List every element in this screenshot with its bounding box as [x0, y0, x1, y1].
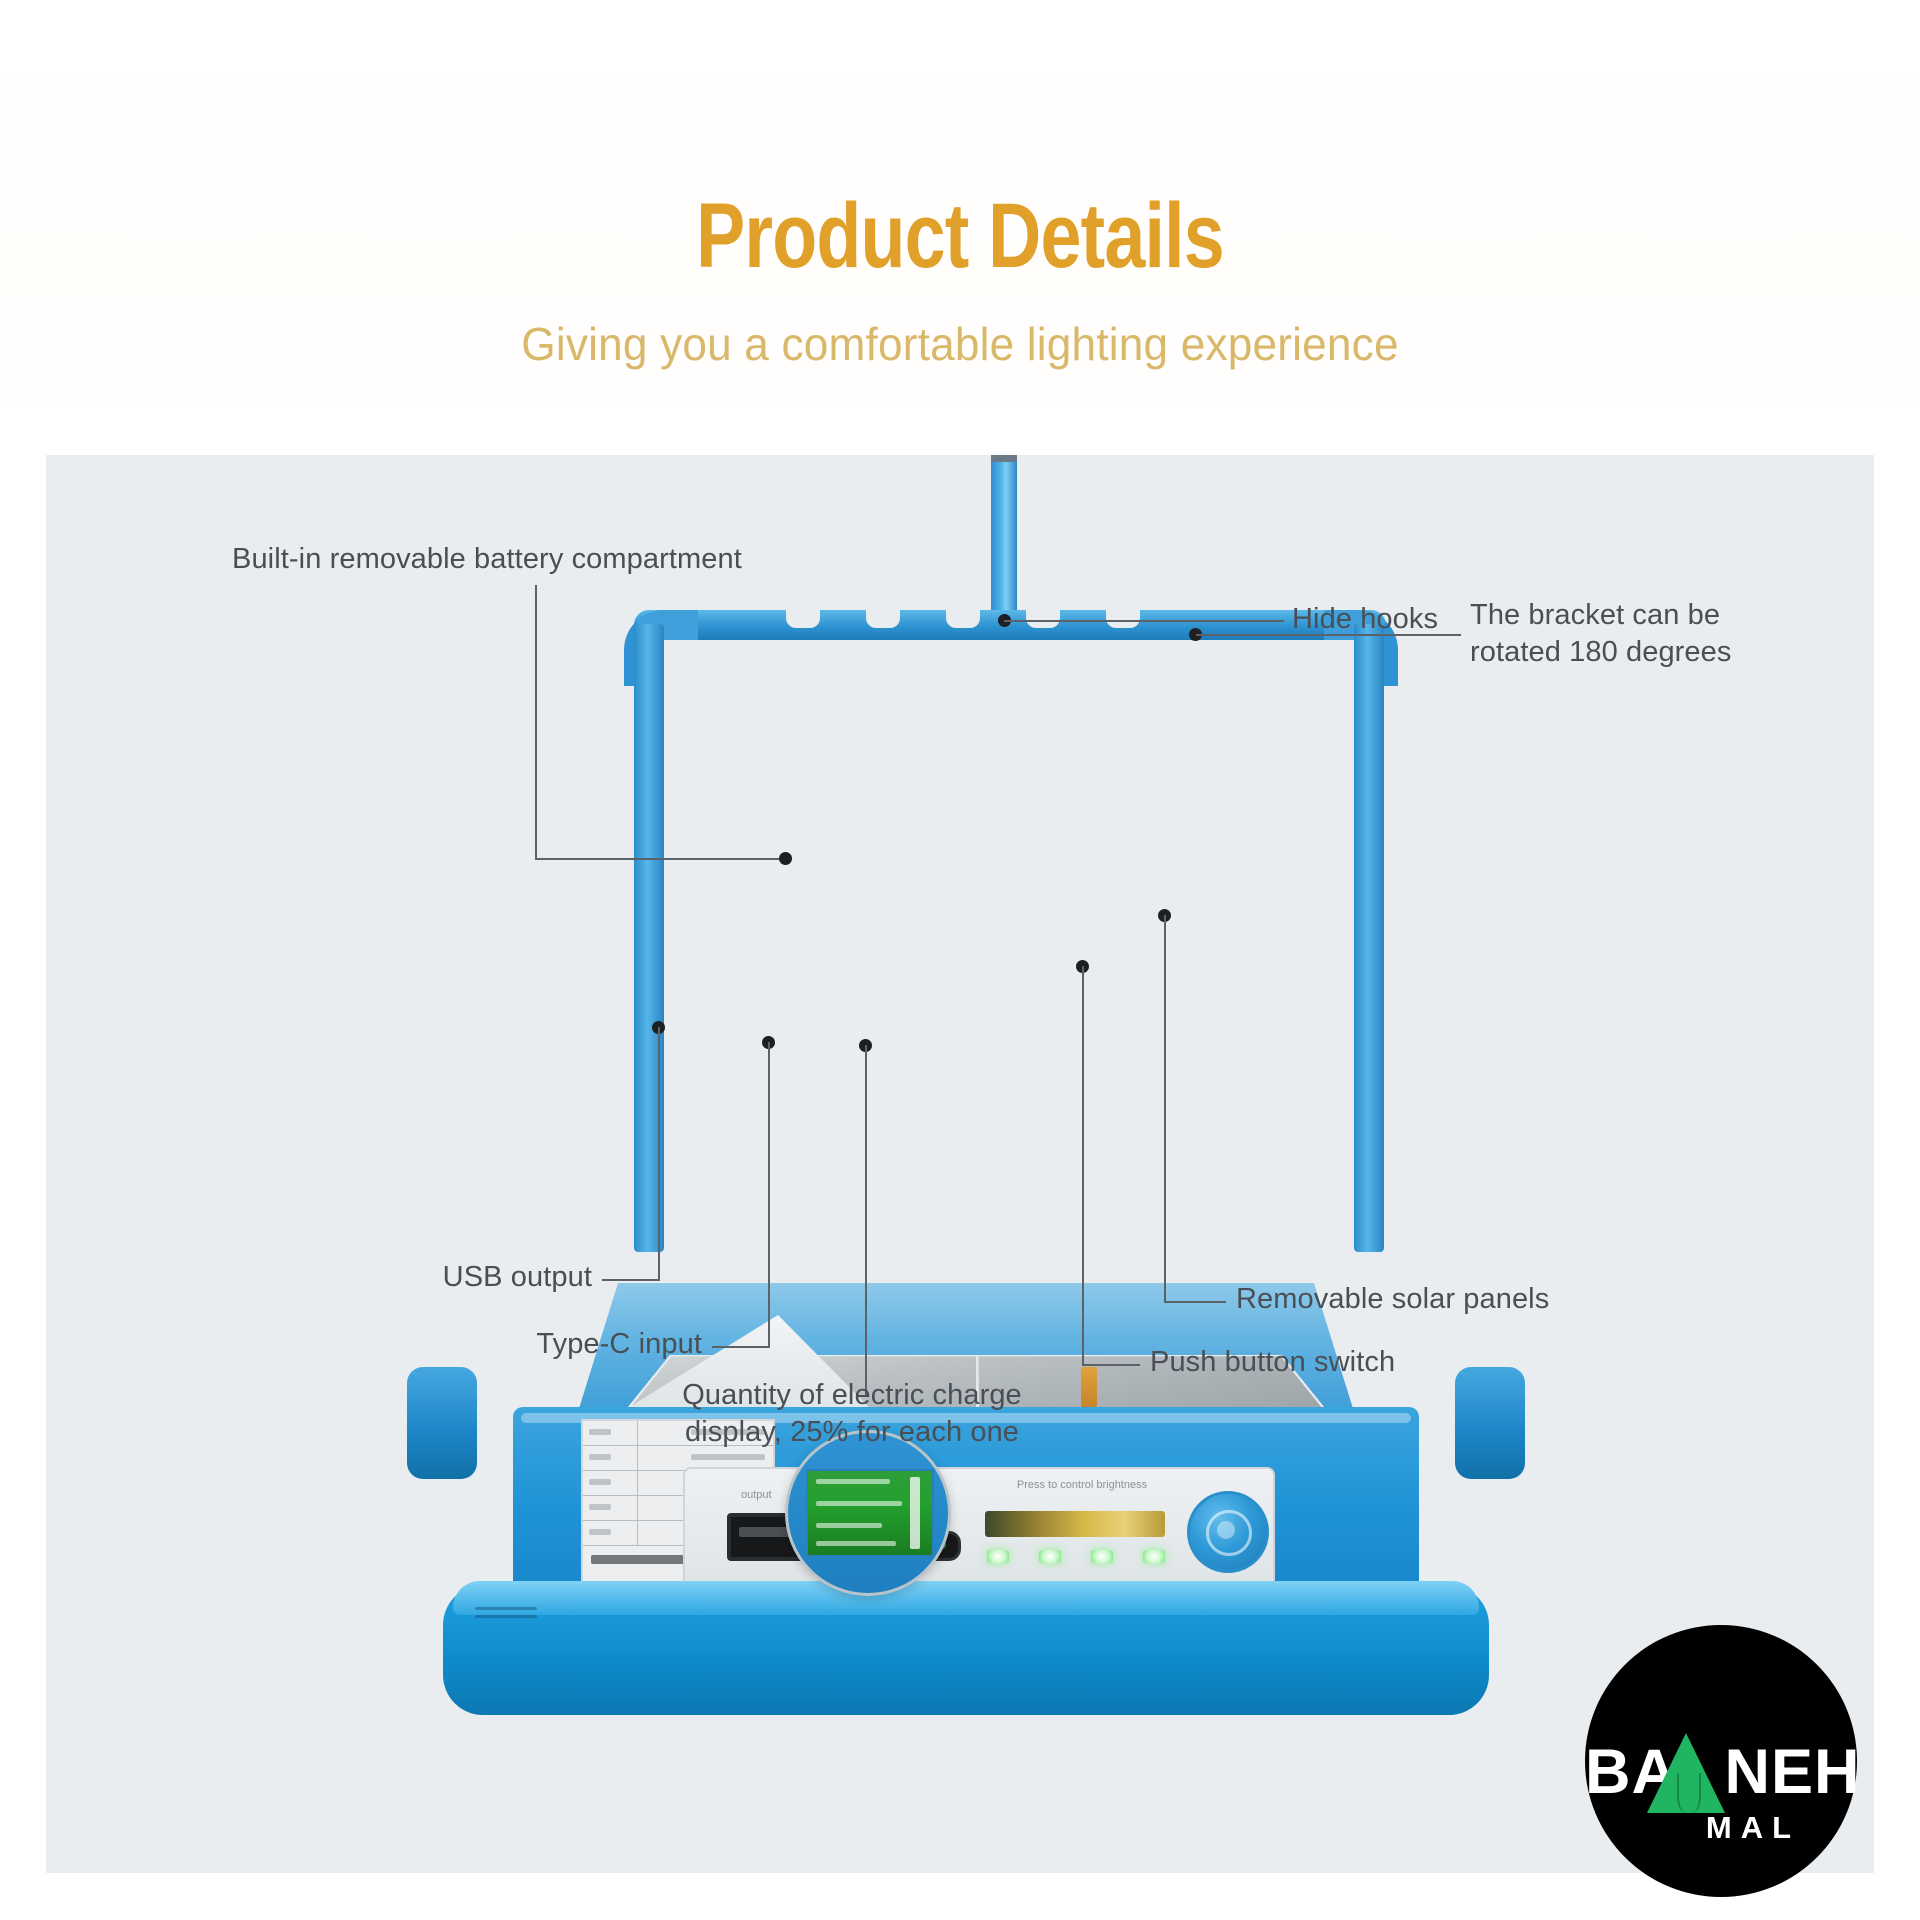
side-hinge-right — [1455, 1367, 1525, 1479]
brightness-indicator-bar — [985, 1511, 1165, 1537]
base-vent-icon — [475, 1607, 537, 1610]
header: Product Details Giving you a comfortable… — [0, 0, 1920, 455]
charge-led — [1091, 1550, 1113, 1563]
product-details-page: Product Details Giving you a comfortable… — [0, 0, 1920, 1920]
leader-line — [865, 1045, 867, 1395]
battery-compartment-magnifier — [785, 1430, 951, 1596]
leader-line — [768, 1042, 770, 1348]
logo-text-secondary: NEH — [1725, 1737, 1861, 1807]
annotation-charge-display: Quantity of electric charge display, 25%… — [642, 1377, 1062, 1451]
charge-led — [987, 1550, 1009, 1563]
side-hinge-left — [407, 1367, 477, 1479]
leader-line — [712, 1346, 770, 1348]
leader-line — [1082, 1364, 1140, 1366]
tent-door-icon — [1677, 1773, 1701, 1813]
annotation-hide-hooks: Hide hooks — [1292, 601, 1438, 638]
annotation-usb-output: USB output — [342, 1259, 592, 1296]
charge-led — [1039, 1550, 1061, 1563]
leader-line — [1164, 1301, 1226, 1303]
bracket-notch — [1106, 610, 1140, 628]
lamp-base-rim — [453, 1581, 1479, 1615]
bracket-notch — [786, 610, 820, 628]
hook-cap-icon — [991, 455, 1017, 462]
logo-wordmark: BAANEH — [1585, 1741, 1857, 1804]
annotation-bracket-rotation: The bracket can be rotated 180 degrees — [1470, 597, 1731, 671]
control-panel: output input Press to control brightness — [683, 1467, 1275, 1589]
annotation-battery-compartment: Built-in removable battery compartment — [232, 541, 742, 578]
annotation-push-button: Push button switch — [1150, 1344, 1395, 1381]
battery-pcb-detail — [806, 1469, 934, 1557]
leader-line — [1004, 620, 1284, 622]
bracket-notch — [946, 610, 980, 628]
brightness-caption: Press to control brightness — [997, 1479, 1167, 1491]
annotation-type-c-input: Type-C input — [442, 1326, 702, 1363]
bracket-notch — [866, 610, 900, 628]
product-image-stage: output input Press to control brightness — [46, 455, 1874, 1873]
bracket-notch — [1026, 610, 1060, 628]
annotation-solar-panels: Removable solar panels — [1236, 1281, 1549, 1318]
leader-dot — [779, 852, 792, 865]
baneh-mal-logo: BAANEH MAL — [1585, 1625, 1857, 1897]
leader-line — [602, 1279, 660, 1281]
base-vent-icon — [475, 1615, 537, 1618]
leader-line — [535, 585, 537, 860]
charge-level-display — [987, 1547, 1165, 1565]
leader-line — [658, 1027, 660, 1281]
page-subtitle: Giving you a comfortable lighting experi… — [38, 318, 1881, 370]
usb-port-caption: output — [741, 1489, 772, 1501]
logo-tagline: MAL — [1585, 1810, 1857, 1846]
push-button-switch[interactable] — [1187, 1491, 1269, 1573]
leader-line — [1164, 915, 1166, 1303]
solar-release-tab — [1081, 1367, 1097, 1407]
leader-line — [1082, 966, 1084, 1366]
leader-line — [535, 858, 785, 860]
page-title: Product Details — [192, 188, 1728, 284]
charge-led — [1143, 1550, 1165, 1563]
